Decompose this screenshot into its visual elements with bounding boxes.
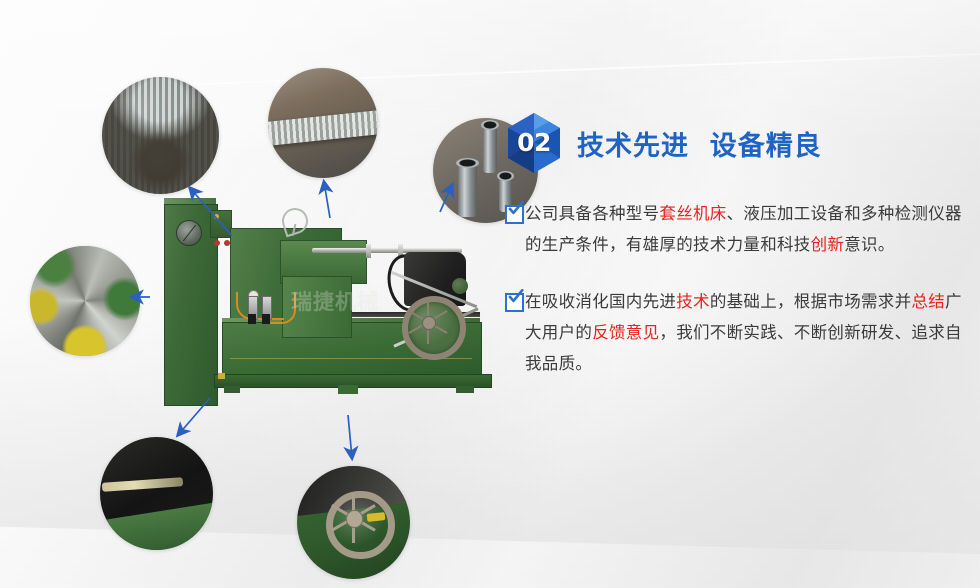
detail-handwheel xyxy=(297,466,410,579)
product-image: 瑞捷机械 xyxy=(152,192,492,422)
detail-threaded-bar xyxy=(268,68,378,178)
list-item: 在吸收消化国内先进技术的基础上，根据市场需求并总结广大用户的反馈意见，我们不断实… xyxy=(505,286,967,379)
machine-handwheel xyxy=(402,296,466,360)
promo-banner: 瑞捷机械 xyxy=(0,0,980,588)
bullet-list: 公司具备各种型号套丝机床、液压加工设备和多种检测仪器的生产条件，有雄厚的技术力量… xyxy=(505,198,967,379)
content-panel: 02 技术先进 设备精良 公司具备各种型号套丝机床、液压加工设备和多种检测仪器的… xyxy=(505,112,967,405)
hexagon-badge-icon: 02 xyxy=(505,112,563,174)
checkbox-checked-icon xyxy=(505,203,522,220)
page-title: 技术先进 设备精良 xyxy=(577,124,822,163)
image-watermark: 瑞捷机械 xyxy=(270,292,400,313)
badge-number: 02 xyxy=(505,128,563,157)
machine-fan-grille xyxy=(176,220,202,246)
list-item: 公司具备各种型号套丝机床、液压加工设备和多种检测仪器的生产条件，有雄厚的技术力量… xyxy=(505,198,967,260)
section-heading: 02 技术先进 设备精良 xyxy=(505,112,967,174)
bullet-text-2: 在吸收消化国内先进技术的基础上，根据市场需求并总结广大用户的反馈意见，我们不断实… xyxy=(525,286,967,379)
detail-threaded-rod xyxy=(102,77,219,194)
checkbox-checked-icon xyxy=(505,291,522,308)
bullet-text-1: 公司具备各种型号套丝机床、液压加工设备和多种检测仪器的生产条件，有雄厚的技术力量… xyxy=(525,198,967,260)
detail-die-head xyxy=(30,246,140,356)
detail-hydraulic-hoses xyxy=(100,437,213,550)
